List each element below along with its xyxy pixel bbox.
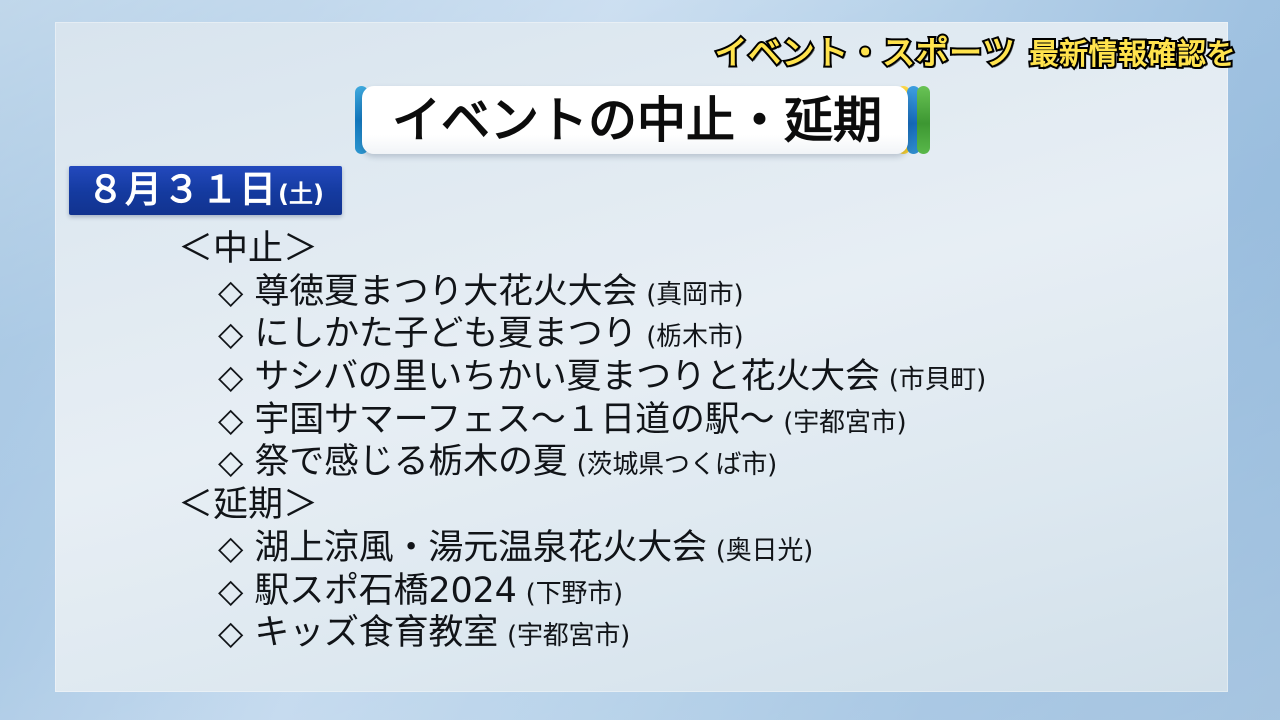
diamond-bullet-icon: ◇ bbox=[218, 571, 243, 611]
kicker-primary: イベント・スポーツ bbox=[715, 33, 1016, 72]
diamond-bullet-icon: ◇ bbox=[218, 272, 243, 312]
date-badge-weekday: (土) bbox=[278, 182, 324, 206]
event-name: キッズ食育教室 bbox=[254, 612, 498, 655]
event-item: ◇駅スポ石橋2024(下野市) bbox=[218, 570, 1218, 613]
diamond-bullet-icon: ◇ bbox=[218, 314, 243, 354]
date-badge-main: ８月３１日 bbox=[87, 171, 277, 208]
section-heading: ＜中止＞ bbox=[178, 228, 1218, 271]
event-name: 駅スポ石橋2024 bbox=[254, 570, 516, 613]
diamond-bullet-icon: ◇ bbox=[218, 400, 243, 440]
event-item: ◇キッズ食育教室(宇都宮市) bbox=[218, 612, 1218, 655]
event-item: ◇尊徳夏まつり大花火大会(真岡市) bbox=[218, 271, 1218, 314]
event-location: (栃木市) bbox=[646, 322, 743, 354]
event-location: (市貝町) bbox=[889, 365, 986, 397]
date-badge: ８月３１日 (土) bbox=[69, 166, 342, 215]
event-name: 祭で感じる栃木の夏 bbox=[254, 441, 567, 484]
event-item: ◇宇国サマーフェス～１日道の駅～(宇都宮市) bbox=[218, 399, 1218, 442]
event-name: 宇国サマーフェス～１日道の駅～ bbox=[254, 399, 774, 442]
event-location: (宇都宮市) bbox=[783, 408, 906, 440]
broadcast-graphic: イベント・スポーツ最新情報確認を イベントの中止・延期 ８月３１日 (土) ＜中… bbox=[0, 0, 1280, 720]
event-list: ＜中止＞◇尊徳夏まつり大花火大会(真岡市)◇にしかた子ども夏まつり(栃木市)◇サ… bbox=[178, 228, 1218, 655]
event-name: 尊徳夏まつり大花火大会 bbox=[254, 271, 637, 314]
diamond-bullet-icon: ◇ bbox=[218, 613, 243, 653]
event-location: (茨城県つくば市) bbox=[577, 450, 778, 482]
section-heading: ＜延期＞ bbox=[178, 484, 1218, 527]
event-item: ◇湖上涼風・湯元温泉花火大会(奥日光) bbox=[218, 527, 1218, 570]
event-name: にしかた子ども夏まつり bbox=[254, 313, 637, 356]
banner-accent-bar-green bbox=[917, 86, 930, 154]
event-name: サシバの里いちかい夏まつりと花火大会 bbox=[254, 356, 879, 399]
event-location: (宇都宮市) bbox=[507, 621, 630, 653]
event-item: ◇サシバの里いちかい夏まつりと花火大会(市貝町) bbox=[218, 356, 1218, 399]
event-location: (下野市) bbox=[526, 579, 623, 611]
diamond-bullet-icon: ◇ bbox=[218, 442, 243, 482]
diamond-bullet-icon: ◇ bbox=[218, 528, 243, 568]
title-banner: イベントの中止・延期 bbox=[355, 86, 930, 154]
event-item: ◇祭で感じる栃木の夏(茨城県つくば市) bbox=[218, 441, 1218, 484]
event-item: ◇にしかた子ども夏まつり(栃木市) bbox=[218, 313, 1218, 356]
event-name: 湖上涼風・湯元温泉花火大会 bbox=[254, 527, 706, 570]
diamond-bullet-icon: ◇ bbox=[218, 357, 243, 397]
kicker-secondary: 最新情報確認を bbox=[1029, 37, 1236, 71]
event-location: (奥日光) bbox=[716, 536, 813, 568]
kicker-headline: イベント・スポーツ最新情報確認を bbox=[715, 36, 1236, 69]
page-title: イベントの中止・延期 bbox=[392, 96, 882, 145]
event-location: (真岡市) bbox=[646, 280, 743, 312]
banner-body: イベントの中止・延期 bbox=[362, 86, 908, 154]
